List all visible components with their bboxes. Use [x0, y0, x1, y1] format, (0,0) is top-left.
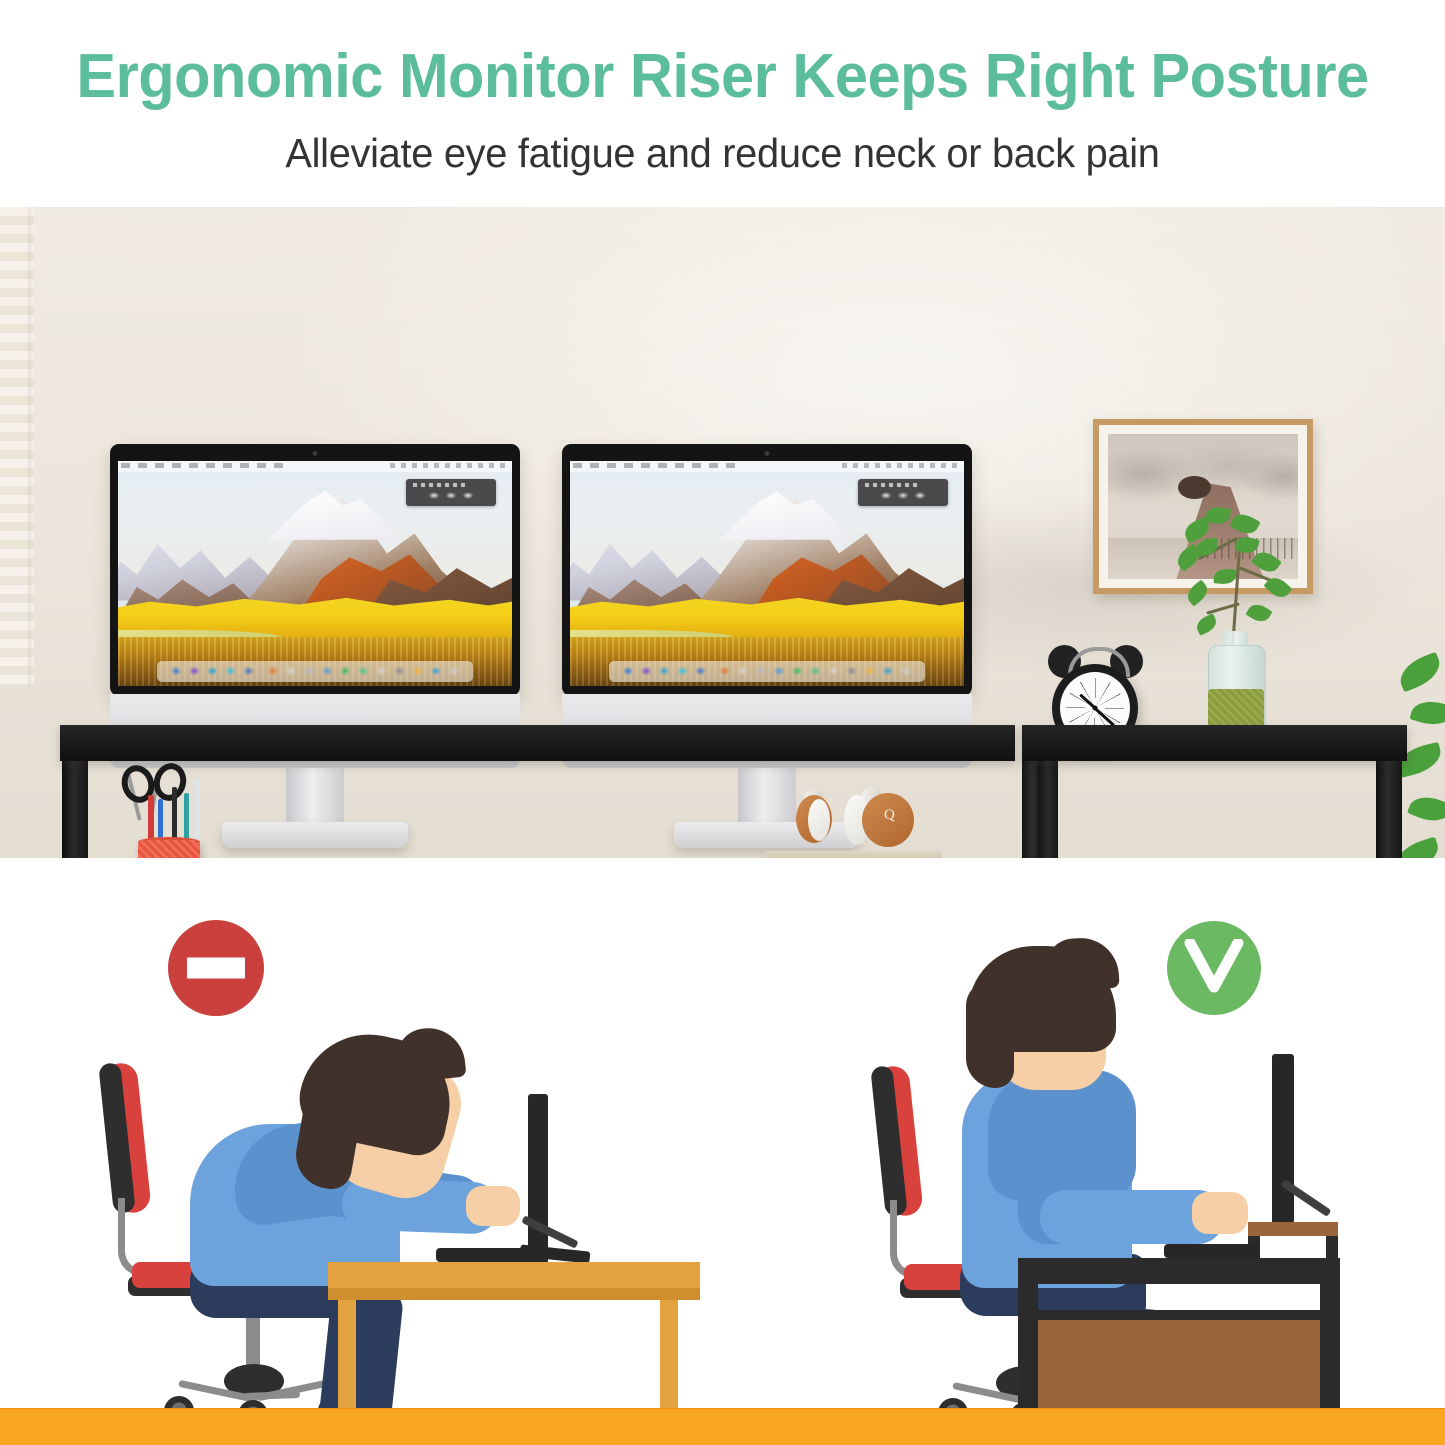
product-photo: Q THRIFT — [0, 207, 1445, 858]
illustration-keyboard — [1164, 1244, 1260, 1258]
riser-shelf-top — [1248, 1222, 1338, 1236]
product-infographic-page: Ergonomic Monitor Riser Keeps Right Post… — [0, 0, 1445, 1445]
header-section: Ergonomic Monitor Riser Keeps Right Post… — [0, 0, 1445, 207]
clock-center-pin — [1093, 706, 1098, 711]
monitor-riser-shelf-left — [60, 725, 1015, 761]
monitor-neck — [738, 768, 796, 826]
monitor-camera — [313, 451, 318, 456]
widget-icons — [878, 490, 929, 501]
wooden-desktop-edge — [328, 1288, 700, 1300]
no-entry-bar — [187, 958, 245, 979]
monitor-foot — [222, 822, 408, 848]
posture-comparison-illustration — [0, 858, 1445, 1445]
riser-leg-right — [1376, 759, 1402, 858]
left-monitor — [110, 444, 520, 696]
dock[interactable] — [157, 661, 472, 681]
menu-bar-items[interactable] — [121, 463, 286, 468]
page-title: Ergonomic Monitor Riser Keeps Right Post… — [29, 42, 1416, 112]
curtain — [0, 207, 34, 687]
menu-bar-status-items[interactable] — [842, 463, 960, 468]
menu-bar-status-items[interactable] — [390, 463, 508, 468]
desk-top-surface — [1018, 1258, 1340, 1284]
person-hand — [466, 1186, 520, 1226]
person-hand — [1192, 1192, 1248, 1234]
desk-drawer-upper — [1038, 1320, 1320, 1416]
monitor-riser-shelf-right — [1022, 725, 1407, 761]
check-v-glyph — [1184, 939, 1244, 993]
desk-frame-rail-top — [1018, 1310, 1340, 1320]
riser-leg-left — [62, 759, 88, 858]
person-hair-fringe — [393, 1025, 466, 1084]
page-subtitle: Alleviate eye fatigue and reduce neck or… — [22, 128, 1424, 178]
art-figure — [1178, 476, 1210, 499]
widget-icons — [426, 490, 477, 501]
monitor-screen — [570, 461, 964, 686]
desktop-widget[interactable] — [406, 479, 497, 506]
monitor-screen — [118, 461, 512, 686]
low-monitor-screen — [528, 1094, 548, 1264]
dock[interactable] — [609, 661, 924, 681]
widget-title — [865, 483, 919, 487]
menu-bar-items[interactable] — [573, 463, 738, 468]
person-hair-fringe — [1044, 936, 1119, 993]
person-hair-back — [966, 980, 1014, 1088]
widget-title — [413, 483, 467, 487]
check-icon — [1167, 921, 1261, 1015]
monitor-camera — [765, 451, 770, 456]
dock-icons[interactable] — [164, 663, 467, 679]
book-top — [766, 851, 942, 858]
desktop-widget[interactable] — [858, 479, 949, 506]
menu-bar[interactable] — [570, 461, 964, 472]
no-entry-icon — [168, 920, 264, 1016]
right-monitor — [562, 444, 972, 696]
monitor-neck — [286, 768, 344, 826]
raised-monitor-screen — [1272, 1054, 1294, 1224]
pen-cup — [138, 840, 200, 858]
floor-bar — [0, 1409, 1445, 1445]
wooden-desktop — [328, 1262, 700, 1288]
headphone-pad-left — [808, 799, 830, 841]
dock-icons[interactable] — [616, 663, 919, 679]
menu-bar[interactable] — [118, 461, 512, 472]
riser-leg-right-inner — [1038, 759, 1058, 858]
illustration-keyboard — [436, 1248, 542, 1262]
monitor-foot — [674, 822, 860, 848]
headphone-brand-logo: Q — [884, 807, 895, 824]
wall-art-frame — [1093, 419, 1313, 594]
